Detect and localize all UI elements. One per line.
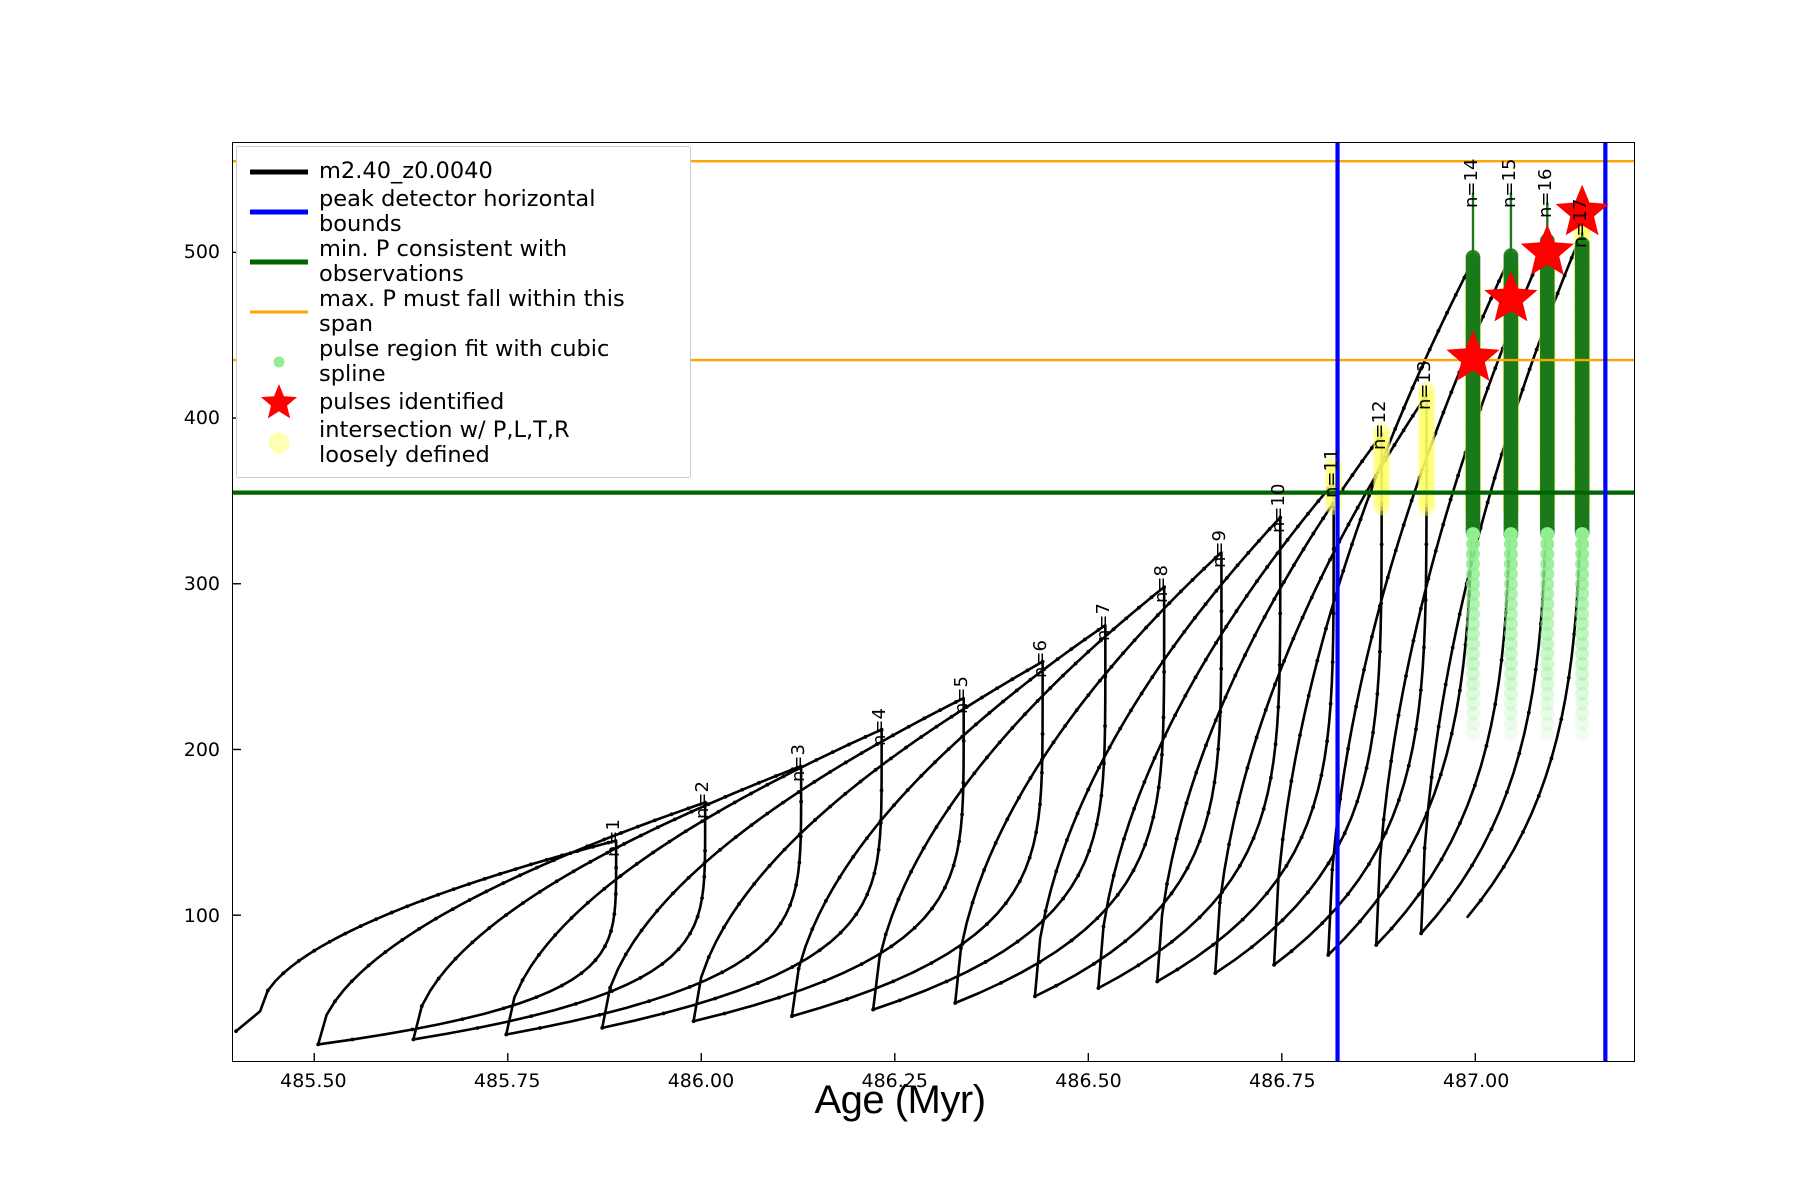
legend-entry[interactable]: max. P must fall within this span: [248, 287, 679, 337]
x-tick-label: 486.50: [1055, 1070, 1121, 1092]
legend-marker-line-with-point-icon: [248, 159, 310, 185]
legend-label: min. P consistent with observations: [319, 237, 679, 287]
pulse-index-label: n=12: [1369, 401, 1390, 450]
pulse-index-label: n=2: [692, 781, 713, 819]
y-tick-label: 100: [160, 905, 220, 927]
legend-dot-marker: [274, 357, 285, 368]
pulse-index-label: n=4: [869, 708, 890, 746]
legend-line-swatch: [250, 210, 308, 215]
y-tick-label: 400: [160, 407, 220, 429]
legend-label: m2.40_z0.0040: [319, 159, 493, 184]
legend-label: pulses identified: [319, 390, 504, 415]
pulse-index-label: n=7: [1093, 603, 1114, 641]
legend-line-swatch: [250, 260, 308, 265]
pulse-index-label: n=15: [1499, 158, 1520, 207]
legend-marker-dot-big-icon: [248, 430, 310, 456]
figure-canvas: FM period (days) Age (Myr) 485.50485.754…: [0, 0, 1800, 1200]
y-tick-label: 300: [160, 573, 220, 595]
pulse-index-label: n=1: [603, 819, 624, 857]
legend-dot-marker: [269, 433, 290, 454]
legend-marker-star-icon: [248, 390, 310, 416]
pulse-index-label: n=9: [1209, 530, 1230, 568]
legend-entry[interactable]: min. P consistent with observations: [248, 237, 679, 287]
pulse-index-label: n=3: [788, 744, 809, 782]
legend-label: pulse region fit with cubic spline: [319, 337, 679, 387]
legend-label: peak detector horizontal bounds: [319, 187, 679, 237]
legend-star-icon: [252, 383, 306, 423]
x-tick-label: 486.75: [1249, 1070, 1315, 1092]
pulse-index-label: n=17: [1570, 198, 1591, 247]
x-tick-label: 485.75: [474, 1070, 540, 1092]
x-tick-label: 487.00: [1443, 1070, 1509, 1092]
x-tick-label: 485.50: [280, 1070, 346, 1092]
legend-marker-line-thick-icon: [248, 199, 310, 225]
legend-marker-line-icon: [248, 299, 310, 325]
pulse-index-label: n=14: [1461, 158, 1482, 207]
legend-label: intersection w/ P,L,T,R loosely defined: [319, 418, 570, 468]
legend-entry[interactable]: pulses identified: [248, 387, 679, 418]
legend-label: max. P must fall within this span: [319, 287, 679, 337]
x-tick-label: 486.00: [668, 1070, 734, 1092]
pulse-index-label: n=11: [1321, 449, 1342, 498]
legend-entry[interactable]: peak detector horizontal bounds: [248, 187, 679, 237]
y-tick-label: 200: [160, 739, 220, 761]
pulse-index-label: n=16: [1535, 168, 1556, 217]
legend-entry[interactable]: m2.40_z0.0040: [248, 156, 679, 187]
pulse-index-label: n=8: [1151, 565, 1172, 603]
legend-line-swatch: [250, 311, 308, 314]
pulse-index-label: n=6: [1030, 640, 1051, 678]
legend-marker-line-thick-icon: [248, 249, 310, 275]
pulse-index-label: n=13: [1414, 361, 1435, 410]
y-tick-label: 500: [160, 241, 220, 263]
x-tick-label: 486.25: [861, 1070, 927, 1092]
pulse-index-label: n=5: [951, 676, 972, 714]
pulse-index-label: n=10: [1268, 484, 1289, 533]
legend-marker-dot-icon: [248, 349, 310, 375]
legend-box: m2.40_z0.0040peak detector horizontal bo…: [236, 146, 691, 478]
legend-entry[interactable]: pulse region fit with cubic spline: [248, 337, 679, 387]
legend-entry[interactable]: intersection w/ P,L,T,R loosely defined: [248, 418, 679, 468]
legend-point-marker: [275, 169, 280, 174]
